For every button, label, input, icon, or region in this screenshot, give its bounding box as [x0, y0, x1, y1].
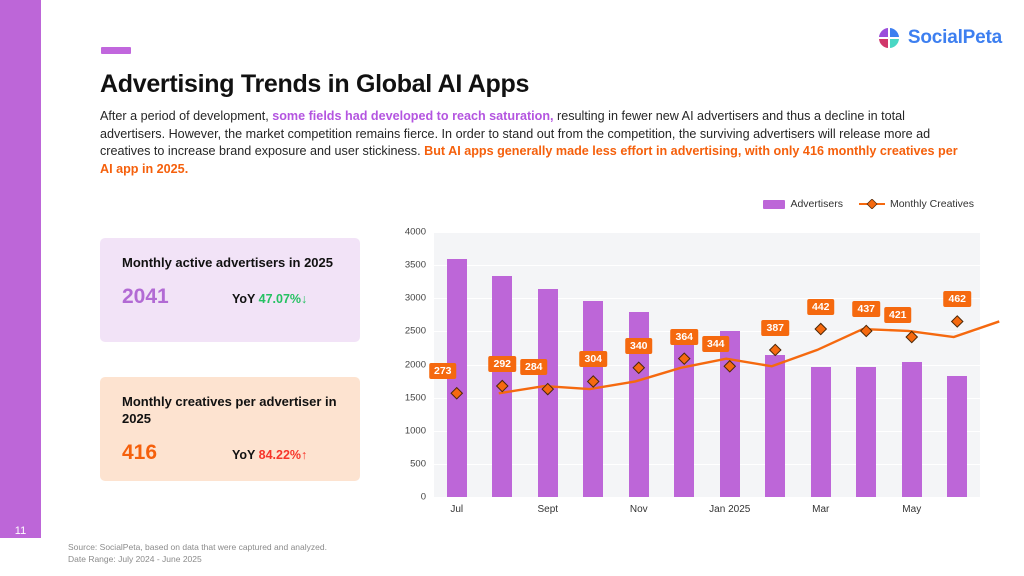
legend-line-marker-icon: [859, 199, 885, 209]
intro-highlight-saturation: some fields had developed to reach satur…: [272, 109, 553, 123]
chart-data-label: 284: [520, 359, 548, 375]
y-axis-tick-label: 1000: [405, 425, 426, 436]
stat-card-row: 2041 YoY 47.07%↓: [122, 285, 338, 309]
x-axis-tick-label: Jan 2025: [709, 504, 750, 515]
chart-data-label: 421: [884, 307, 912, 323]
chart-bar: [674, 329, 694, 497]
stat-card-advertisers: Monthly active advertisers in 2025 2041 …: [100, 238, 360, 342]
chart-bar: [720, 331, 740, 497]
chart-bar: [811, 367, 831, 498]
y-axis-tick-label: 0: [421, 492, 426, 503]
chart-data-label: 273: [429, 363, 457, 379]
legend-label: Advertisers: [790, 198, 843, 210]
chart-legend: Advertisers Monthly Creatives: [763, 198, 974, 210]
legend-label: Monthly Creatives: [890, 198, 974, 210]
chart-data-label: 304: [579, 351, 607, 367]
y-axis-tick-label: 4000: [405, 227, 426, 238]
y-axis-tick-label: 2500: [405, 326, 426, 337]
chart-x-axis: JulSeptNovJan 2025MarMay: [434, 504, 980, 524]
page-title: Advertising Trends in Global AI Apps: [100, 70, 529, 99]
stat-card-value: 416: [122, 441, 232, 465]
chart-bar: [492, 276, 512, 497]
chart-bar: [765, 355, 785, 497]
pinwheel-logo-icon: [877, 26, 901, 50]
chart-data-label: 292: [488, 356, 516, 372]
x-axis-tick-label: Sept: [537, 504, 558, 515]
brand-name: SocialPeta: [908, 27, 1002, 49]
chart-data-label: 364: [670, 329, 698, 345]
chart-bar: [947, 376, 967, 497]
slide-sidebar-accent: [0, 0, 41, 538]
title-accent-dash: [101, 47, 131, 54]
chart-y-axis: 40003500300025002000150010005000: [392, 232, 426, 497]
yoy-label: YoY: [232, 292, 255, 306]
stat-card-yoy: YoY 84.22%↑: [232, 448, 307, 462]
intro-paragraph: After a period of development, some fiel…: [100, 108, 962, 178]
chart-bar: [856, 367, 876, 498]
x-axis-tick-label: Mar: [812, 504, 829, 515]
chart-bar: [902, 362, 922, 497]
advertising-trends-chart: Advertisers Monthly Creatives 4000350030…: [392, 198, 980, 528]
chart-data-label: 344: [702, 336, 730, 352]
stat-card-creatives: Monthly creatives per advertiser in 2025…: [100, 377, 360, 481]
chart-data-label: 462: [943, 291, 971, 307]
legend-item-monthly-creatives: Monthly Creatives: [859, 198, 974, 210]
source-footnote: Source: SocialPeta, based on data that w…: [68, 541, 327, 565]
yoy-value: 84.22%↑: [259, 448, 308, 462]
intro-part1: After a period of development,: [100, 109, 272, 123]
y-axis-tick-label: 1500: [405, 392, 426, 403]
chart-data-label: 340: [625, 338, 653, 354]
y-axis-tick-label: 2000: [405, 359, 426, 370]
y-axis-tick-label: 3500: [405, 260, 426, 271]
x-axis-tick-label: May: [902, 504, 921, 515]
chart-data-label: 437: [852, 301, 880, 317]
x-axis-tick-label: Jul: [450, 504, 463, 515]
yoy-label: YoY: [232, 448, 255, 462]
chart-plot-wrapper: 40003500300025002000150010005000 2732922…: [392, 232, 980, 528]
footnote-source: Source: SocialPeta, based on data that w…: [68, 541, 327, 553]
y-axis-tick-label: 3000: [405, 293, 426, 304]
chart-data-label: 442: [807, 299, 835, 315]
slide-number: 11: [0, 525, 41, 537]
stat-card-yoy: YoY 47.07%↓: [232, 292, 307, 306]
x-axis-tick-label: Nov: [630, 504, 648, 515]
chart-bar: [538, 289, 558, 497]
stat-card-title: Monthly active advertisers in 2025: [122, 254, 338, 271]
stat-card-title: Monthly creatives per advertiser in 2025: [122, 393, 338, 427]
y-axis-tick-label: 500: [410, 458, 426, 469]
legend-bar-swatch-icon: [763, 200, 785, 209]
yoy-value: 47.07%↓: [259, 292, 308, 306]
chart-bar: [583, 301, 603, 497]
stat-card-row: 416 YoY 84.22%↑: [122, 441, 338, 465]
brand-logo: SocialPeta: [877, 26, 1002, 50]
chart-data-label: 387: [761, 320, 789, 336]
legend-item-advertisers: Advertisers: [763, 198, 843, 210]
stat-card-value: 2041: [122, 285, 232, 309]
footnote-daterange: Date Range: July 2024 - June 2025: [68, 553, 327, 565]
